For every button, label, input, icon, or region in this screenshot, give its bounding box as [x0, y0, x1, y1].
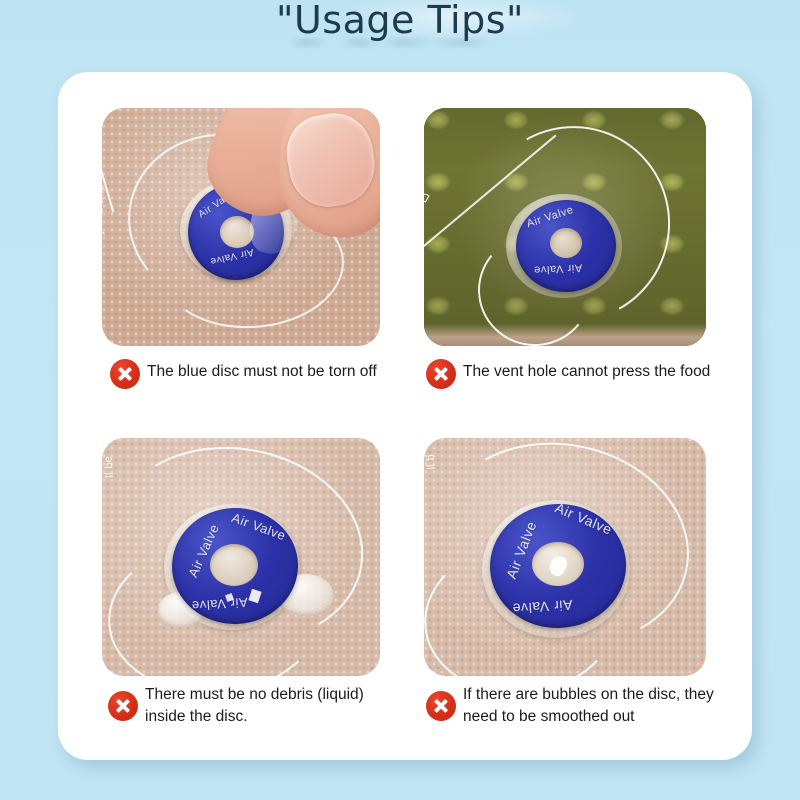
finger-peeling-blue-disc-photo: ll beyond this Air Valve Air Valve [102, 108, 380, 346]
tip-item: ll beyond this Air Valve Air Valve [102, 108, 427, 389]
tip-caption-text: The vent hole cannot press the food [463, 358, 710, 383]
tip-caption-line-2: inside the disc. [145, 708, 248, 725]
bag-warning-text: ll be [102, 456, 115, 478]
valve-label-bottom: Air Valve [209, 246, 255, 267]
tip-caption-text: There must be no debris (liquid) inside … [145, 684, 364, 729]
vent-hole [210, 544, 258, 586]
red-circle-x-icon [108, 691, 138, 721]
debris-liquid-inside-disc-photo: ll be Air Valve Air Valve Air Valve [102, 438, 380, 676]
tip-item: Do not fill beyond this line! Seal Vac c… [424, 108, 749, 389]
vent-hole [550, 228, 582, 258]
bubbles-on-disc-photo: ll b Air Valve Air Valve Air Valve [424, 438, 706, 676]
red-circle-x-icon [426, 359, 456, 389]
page-title: "Usage Tips" [276, 0, 524, 42]
tip-caption-text: The blue disc must not be torn off [147, 358, 377, 383]
usage-tips-page: "Usage Tips" ll beyond this Air Val [0, 0, 800, 800]
tip-caption-text: If there are bubbles on the disc, they n… [463, 684, 714, 729]
tip-item: ll b Air Valve Air Valve Air Valve [424, 438, 749, 729]
tip-caption-line-1: There must be no debris (liquid) [145, 686, 364, 703]
tip-item: ll be Air Valve Air Valve Air Valve [102, 438, 427, 729]
tip-caption-line-1: If there are bubbles on the disc, they [463, 686, 714, 703]
tips-grid: ll beyond this Air Valve Air Valve [58, 72, 752, 760]
bag-warning-text: ll b [424, 454, 438, 470]
vent-hole [220, 216, 254, 248]
tip-caption: There must be no debris (liquid) inside … [108, 684, 427, 729]
red-circle-x-icon [110, 359, 140, 389]
tips-card: ll beyond this Air Valve Air Valve [58, 72, 752, 760]
valve-label-bottom: Air Valve [191, 595, 248, 614]
tip-caption: If there are bubbles on the disc, they n… [426, 684, 749, 729]
tip-caption-line-2: need to be smoothed out [463, 708, 635, 725]
mung-beans-vent-hole-photo: Do not fill beyond this line! Seal Vac c… [424, 108, 706, 346]
valve-label-bottom: Air Valve [533, 261, 582, 276]
tip-caption: The blue disc must not be torn off [110, 358, 427, 389]
red-circle-x-icon [426, 691, 456, 721]
valve-label-bottom: Air Valve [512, 597, 573, 617]
tip-caption: The vent hole cannot press the food [426, 358, 749, 389]
title-subtext-blur [290, 38, 500, 47]
